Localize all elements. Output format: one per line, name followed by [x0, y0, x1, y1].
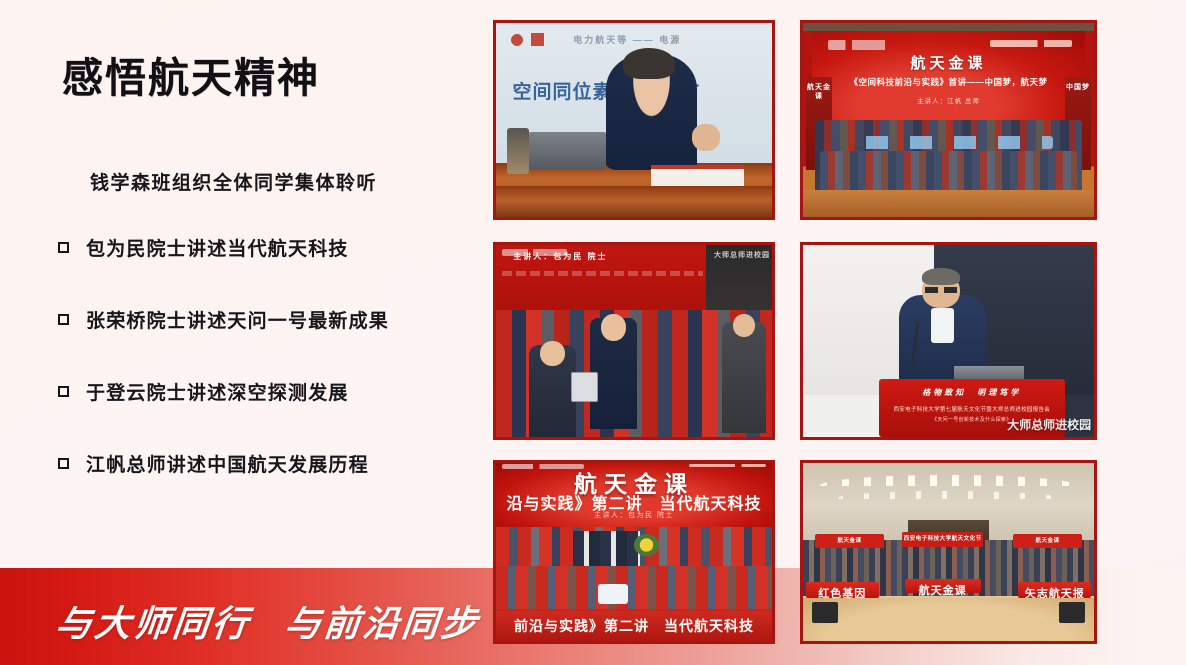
backdrop-logos-left: [828, 40, 937, 50]
side-banner-left-text: 航天金课: [806, 83, 832, 101]
backdrop-subtitle: 《空间科技前沿与实践》首讲——中国梦，航天梦: [812, 76, 1086, 88]
auditorium-floor: [803, 598, 1094, 641]
square-bullet-icon: [58, 386, 69, 397]
podium-calligraphy: 格物致知 明理笃学: [879, 387, 1065, 398]
auditorium-ceiling: [803, 463, 1094, 509]
crowd-front-row: [820, 151, 1076, 194]
upper-banner-right-text: 航天金课: [1013, 536, 1083, 544]
upper-banner-left-text: 航天金课: [815, 536, 885, 544]
list-item-label: 张荣桥院士讲述天问一号最新成果: [86, 306, 389, 333]
list-item-label: 于登云院士讲述深空探测发展: [86, 378, 349, 405]
photo-grid: 电力航天等 —— 电源 空间同位素电源（RT 讲座现场：主讲人发言，屏幕显示课题…: [493, 20, 1097, 644]
banner-right: 矢志航天报: [1018, 582, 1091, 598]
projected-slide-top-text: 电力航天等 —— 电源: [573, 33, 681, 46]
photo-scene: 航天金课 西安电子科技大学航天文化节 航天金课 红色基因 航天金课 矢志航天报: [803, 463, 1094, 641]
stage-floor: [803, 190, 1094, 217]
square-bullet-icon: [58, 314, 69, 325]
stage-backdrop: 航天金课 沿与实践》第二讲 当代航天科技 主讲人：包为民 院士: [496, 463, 772, 527]
photo-group-stage-first-lecture[interactable]: 航天金课 《空间科技前沿与实践》首讲——中国梦，航天梦 主讲人：江帆 总师 航天…: [800, 20, 1097, 220]
backdrop-host: 主讲人：包为民 院士: [513, 251, 607, 262]
list-item[interactable]: 包为民院士讲述当代航天科技: [58, 234, 458, 260]
speaker-shirt: [931, 308, 954, 343]
banner-center: 航天金课: [905, 579, 981, 593]
bottom-banner-text: 前沿与实践》第二讲 当代航天科技: [496, 616, 772, 636]
placard-sign: [598, 584, 628, 604]
banner-center-text: 航天金课: [905, 582, 981, 598]
page-title: 感悟航天精神: [62, 44, 320, 104]
photo-scene: 主讲人：包为民 院士 大师总师进校园: [496, 245, 772, 437]
upper-banner-center: 西安电子科技大学航天文化节: [902, 532, 983, 546]
photo-lecture-isotope-power[interactable]: 电力航天等 —— 电源 空间同位素电源（RT 讲座现场：主讲人发言，屏幕显示课题: [493, 20, 775, 220]
ceiling-lights-row-2: [838, 491, 1059, 498]
photo-students-selfie-academician[interactable]: 主讲人：包为民 院士 大师总师进校园 同学们与院士合影留念: [493, 242, 775, 440]
laptop-icon: [529, 132, 606, 171]
student-right-body: [722, 322, 766, 433]
academician-face: [601, 314, 626, 341]
list-item-label: 江帆总师讲述中国航天发展历程: [86, 450, 369, 477]
selfie-student-face: [540, 341, 565, 366]
watermark-text: 大师总师进校园: [1007, 416, 1091, 433]
podium-line-1: 西安电子科技大学第七届航天文化节暨大师总师进校园报告会: [879, 405, 1065, 413]
backdrop-small-text: [502, 271, 702, 275]
list-item[interactable]: 张荣桥院士讲述天问一号最新成果: [58, 306, 458, 332]
square-bullet-icon: [58, 458, 69, 469]
photo-group-second-lecture[interactable]: 航天金课 沿与实践》第二讲 当代航天科技 主讲人：包为民 院士 前沿与实践》第二…: [493, 460, 775, 644]
name-placard: [651, 165, 745, 188]
upper-banner-left: 航天金课: [815, 534, 885, 548]
smartphone-icon: [571, 372, 599, 403]
list-item-label: 包为民院士讲述当代航天科技: [86, 234, 349, 261]
thermos-mug-icon: [507, 128, 529, 175]
list-item[interactable]: 江帆总师讲述中国航天发展历程: [58, 450, 458, 476]
speaker-box-left: [812, 602, 838, 623]
square-bullet-icon: [58, 242, 69, 253]
upper-banner-right: 航天金课: [1013, 534, 1083, 548]
photo-scene: 电力航天等 —— 电源 空间同位素电源（RT: [496, 23, 772, 217]
list-item[interactable]: 于登云院士讲述深空探测发展: [58, 378, 458, 404]
bullet-list: 包为民院士讲述当代航天科技 张荣桥院士讲述天问一号最新成果 于登云院士讲述深空探…: [58, 234, 458, 476]
speaker-hand: [692, 124, 720, 151]
university-seal-icon: [510, 33, 544, 46]
photo-auditorium-audience[interactable]: 航天金课 西安电子科技大学航天文化节 航天金课 红色基因 航天金课 矢志航天报 …: [800, 460, 1097, 644]
photo-speaker-podium[interactable]: 格物致知 明理笃学 西安电子科技大学第七届航天文化节暨大师总师进校园报告会 《天…: [800, 242, 1097, 440]
speaker-hair: [922, 268, 960, 285]
banner-left: 红色基因: [806, 582, 879, 598]
upper-banner-center-text: 西安电子科技大学航天文化节: [902, 534, 983, 542]
bottom-banner-strip: 前沿与实践》第二讲 当代航天科技: [496, 611, 772, 641]
side-banner-right-text: 中国梦: [1065, 83, 1091, 92]
speaker-box-right: [1059, 602, 1085, 623]
left-text-column: 感悟航天精神 钱学森班组织全体同学集体聆听 包为民院士讲述当代航天科技 张荣桥院…: [0, 0, 480, 568]
wall-banner-text: 大师总师进校园: [714, 250, 770, 260]
photo-scene: 航天金课 沿与实践》第二讲 当代航天科技 主讲人：包为民 院士 前沿与实践》第二…: [496, 463, 772, 641]
speaker-hair: [623, 48, 675, 79]
banner-slogan-left: 与大师同行: [53, 603, 252, 645]
backdrop-logos-right: [990, 40, 1072, 47]
crowd-front-rows: [496, 566, 772, 609]
flower-bouquet-icon: [634, 534, 659, 555]
banner-slogan-right: 与前沿同步: [282, 603, 481, 645]
photo-scene: 格物致知 明理笃学 西安电子科技大学第七届航天文化节暨大师总师进校园报告会 《天…: [803, 245, 1094, 437]
wooden-desk: [496, 186, 772, 217]
ceiling-lights-row-1: [820, 475, 1076, 486]
backdrop-host: 主讲人：包为民 院士: [496, 510, 772, 520]
backdrop-host: 主讲人：江帆 总师: [812, 95, 1086, 105]
backdrop-title: 航天金课: [812, 52, 1086, 73]
banner-slogan: 与大师同行与前沿同步: [53, 595, 482, 647]
slide-canvas: 感悟航天精神 钱学森班组织全体同学集体聆听 包为民院士讲述当代航天科技 张荣桥院…: [0, 0, 1186, 665]
subtitle-text: 钱学森班组织全体同学集体聆听: [90, 168, 377, 195]
photo-scene: 航天金课 《空间科技前沿与实践》首讲——中国梦，航天梦 主讲人：江帆 总师 航天…: [803, 23, 1094, 217]
held-signs: [844, 136, 1054, 150]
glasses-icon: [925, 287, 957, 293]
vip-row: [573, 531, 639, 570]
